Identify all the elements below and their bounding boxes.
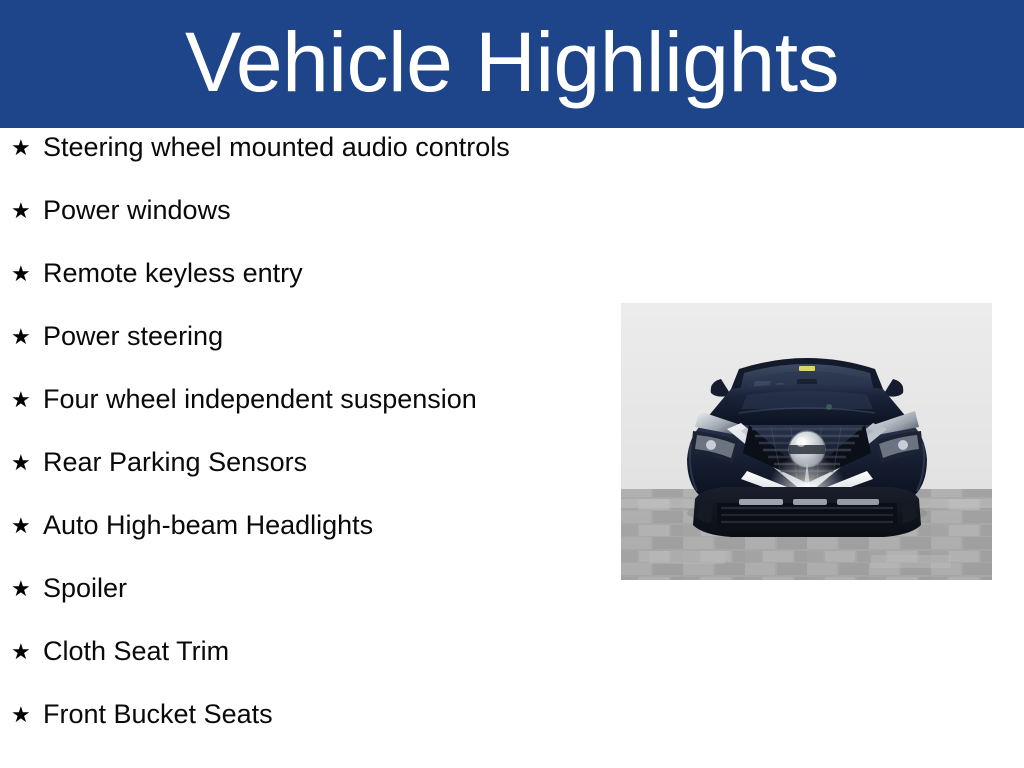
star-bullet-icon: ★ xyxy=(11,641,43,663)
list-item-label: Power steering xyxy=(43,323,223,350)
star-bullet-icon: ★ xyxy=(11,326,43,348)
list-item: ★ Power steering xyxy=(0,323,612,386)
list-item: ★ Remote keyless entry xyxy=(0,260,612,323)
star-bullet-icon: ★ xyxy=(11,704,43,726)
list-item: ★ Power windows xyxy=(0,197,612,260)
list-item-label: Cloth Seat Trim xyxy=(43,638,229,665)
list-item: ★ Rear Parking Sensors xyxy=(0,449,612,512)
list-item-label: Four wheel independent suspension xyxy=(43,386,477,413)
star-bullet-icon: ★ xyxy=(11,263,43,285)
vehicle-front-photo xyxy=(621,303,992,580)
list-item-label: Front Bucket Seats xyxy=(43,701,273,728)
list-item: ★ Auto High-beam Headlights xyxy=(0,512,612,575)
list-item-label: Spoiler xyxy=(43,575,127,602)
list-item-label: Rear Parking Sensors xyxy=(43,449,307,476)
star-bullet-icon: ★ xyxy=(11,200,43,222)
list-item-label: Auto High-beam Headlights xyxy=(43,512,373,539)
list-item-label: Steering wheel mounted audio controls xyxy=(43,134,510,161)
star-bullet-icon: ★ xyxy=(11,452,43,474)
slide-canvas: Vehicle Highlights ★ Steering wheel moun… xyxy=(0,0,1024,768)
list-item: ★ Four wheel independent suspension xyxy=(0,386,612,449)
list-item-label: Remote keyless entry xyxy=(43,260,303,287)
title-banner: Vehicle Highlights xyxy=(0,0,1024,128)
star-bullet-icon: ★ xyxy=(11,515,43,537)
list-item-label: Power windows xyxy=(43,197,231,224)
page-title: Vehicle Highlights xyxy=(185,20,839,104)
list-item: ★ Front Bucket Seats xyxy=(0,701,612,764)
star-bullet-icon: ★ xyxy=(11,137,43,159)
list-item: ★ Spoiler xyxy=(0,575,612,638)
list-item: ★ Cloth Seat Trim xyxy=(0,638,612,701)
star-bullet-icon: ★ xyxy=(11,389,43,411)
star-bullet-icon: ★ xyxy=(11,578,43,600)
vehicle-highlights-list: ★ Steering wheel mounted audio controls … xyxy=(0,134,612,764)
list-item: ★ Steering wheel mounted audio controls xyxy=(0,134,612,197)
vehicle-illustration xyxy=(621,303,992,580)
